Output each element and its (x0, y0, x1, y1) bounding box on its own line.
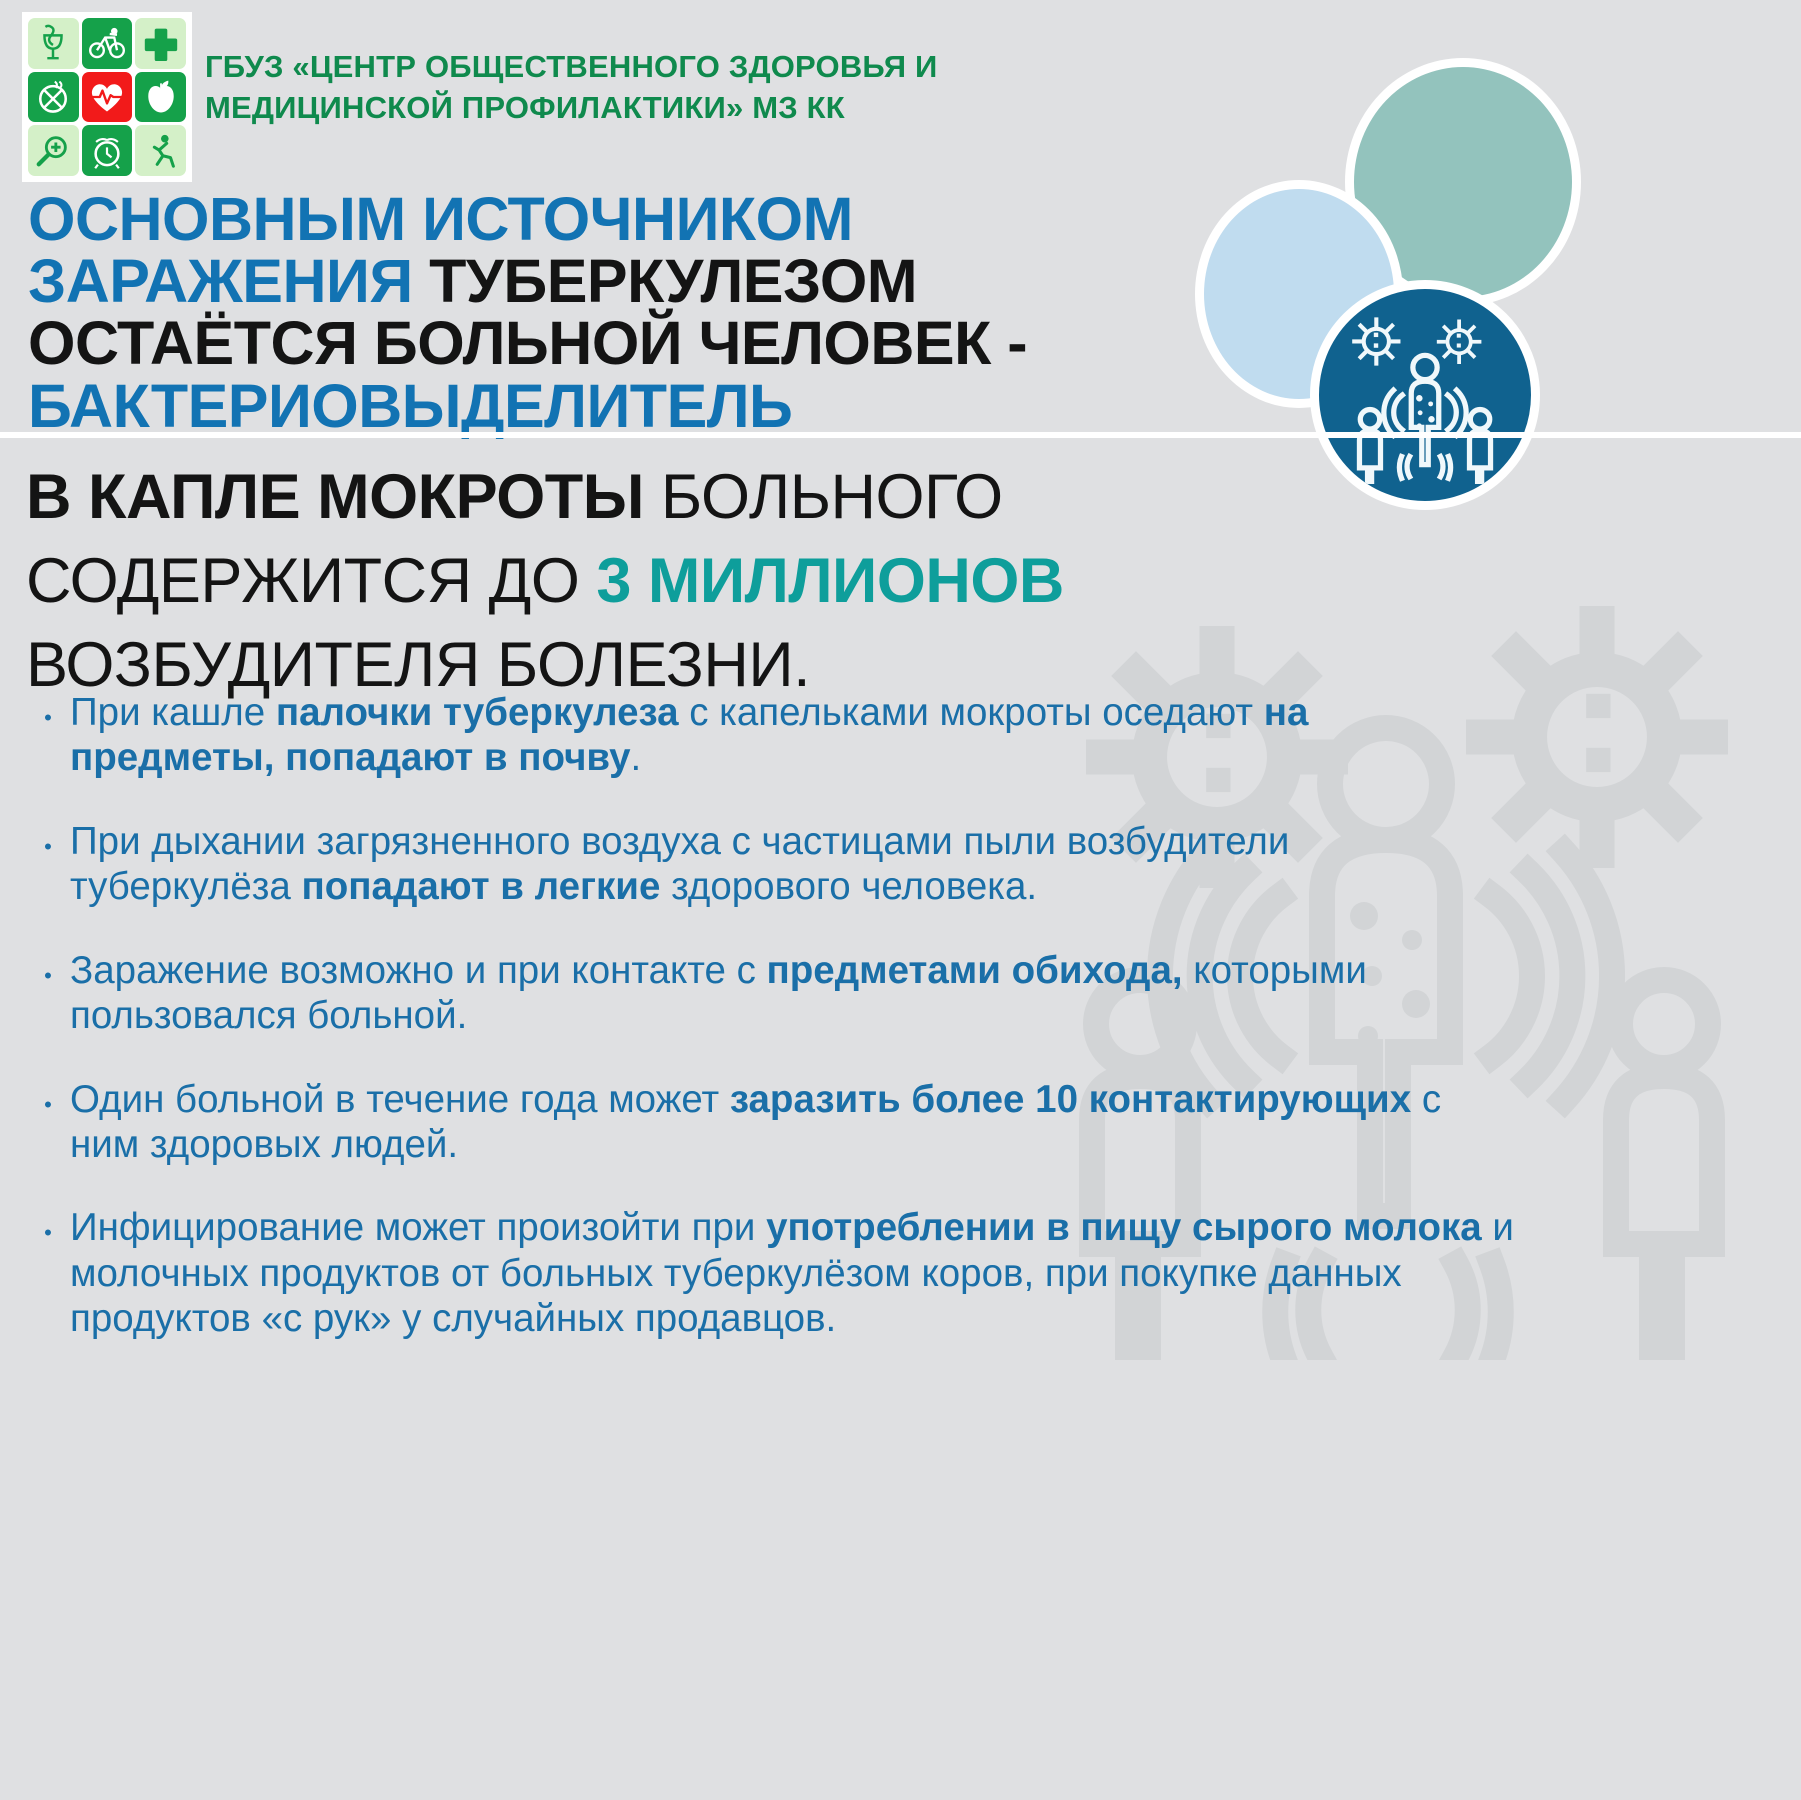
title-line-1: ОСНОВНЫМ ИСТОЧНИКОМ (28, 188, 1188, 250)
title-line-2: ЗАРАЖЕНИЯ ТУБЕРКУЛЕЗОМ (28, 250, 1188, 312)
bullet-marker-icon: • (26, 690, 70, 729)
bullet-list: • При кашле палочки туберкулеза с капель… (26, 690, 1516, 1380)
organization-name: ГБУЗ «ЦЕНТР ОБЩЕСТВЕННОГО ЗДОРОВЬЯ И МЕД… (205, 46, 1255, 128)
bullet-text-4: Один больной в течение года может зарази… (70, 1077, 1516, 1168)
list-item: • Один больной в течение года может зара… (26, 1077, 1516, 1168)
list-item: • При кашле палочки туберкулеза с капель… (26, 690, 1516, 781)
magnifier-plus-icon (28, 125, 79, 176)
bullet-text-1: При кашле палочки туберкулеза с капелька… (70, 690, 1516, 781)
list-item: • При дыхании загрязненного воздуха с ча… (26, 819, 1516, 910)
infection-spread-icon (1310, 280, 1540, 510)
header-divider (0, 432, 1801, 438)
title-line-3: ОСТАЁТСЯ БОЛЬНОЙ ЧЕЛОВЕК - (28, 312, 1188, 374)
org-name-line-1: ГБУЗ «ЦЕНТР ОБЩЕСТВЕННОГО ЗДОРОВЬЯ И (205, 46, 1255, 87)
bullet-marker-icon: • (26, 1205, 70, 1244)
no-smoking-icon (28, 72, 79, 123)
lead-line-2: СОДЕРЖИТСЯ ДО 3 МИЛЛИОНОВ (26, 540, 1446, 624)
bullet-marker-icon: • (26, 948, 70, 987)
alarm-clock-icon (82, 125, 133, 176)
bullet-text-2: При дыхании загрязненного воздуха с част… (70, 819, 1516, 910)
bullet-marker-icon: • (26, 1077, 70, 1116)
bullet-text-3: Заражение возможно и при контакте с пред… (70, 948, 1516, 1039)
medical-cross-icon (135, 18, 186, 69)
org-name-line-2: МЕДИЦИНСКОЙ ПРОФИЛАКТИКИ» МЗ КК (205, 87, 1255, 128)
apple-icon (135, 72, 186, 123)
body-area: В КАПЛЕ МОКРОТЫ БОЛЬНОГО СОДЕРЖИТСЯ ДО 3… (0, 438, 1801, 1800)
organization-logo (22, 12, 192, 182)
list-item: • Инфицирование может произойти при упот… (26, 1205, 1516, 1341)
bicycle-icon (82, 18, 133, 69)
bowl-of-hygieia-icon (28, 18, 79, 69)
heart-pulse-icon (82, 72, 133, 123)
list-item: • Заражение возможно и при контакте с пр… (26, 948, 1516, 1039)
page-title: ОСНОВНЫМ ИСТОЧНИКОМ ЗАРАЖЕНИЯ ТУБЕРКУЛЕЗ… (28, 188, 1188, 437)
bullet-text-5: Инфицирование может произойти при употре… (70, 1205, 1516, 1341)
title-line-4: БАКТЕРИОВЫДЕЛИТЕЛЬ (28, 375, 1188, 437)
bullet-marker-icon: • (26, 819, 70, 858)
running-person-icon (135, 125, 186, 176)
